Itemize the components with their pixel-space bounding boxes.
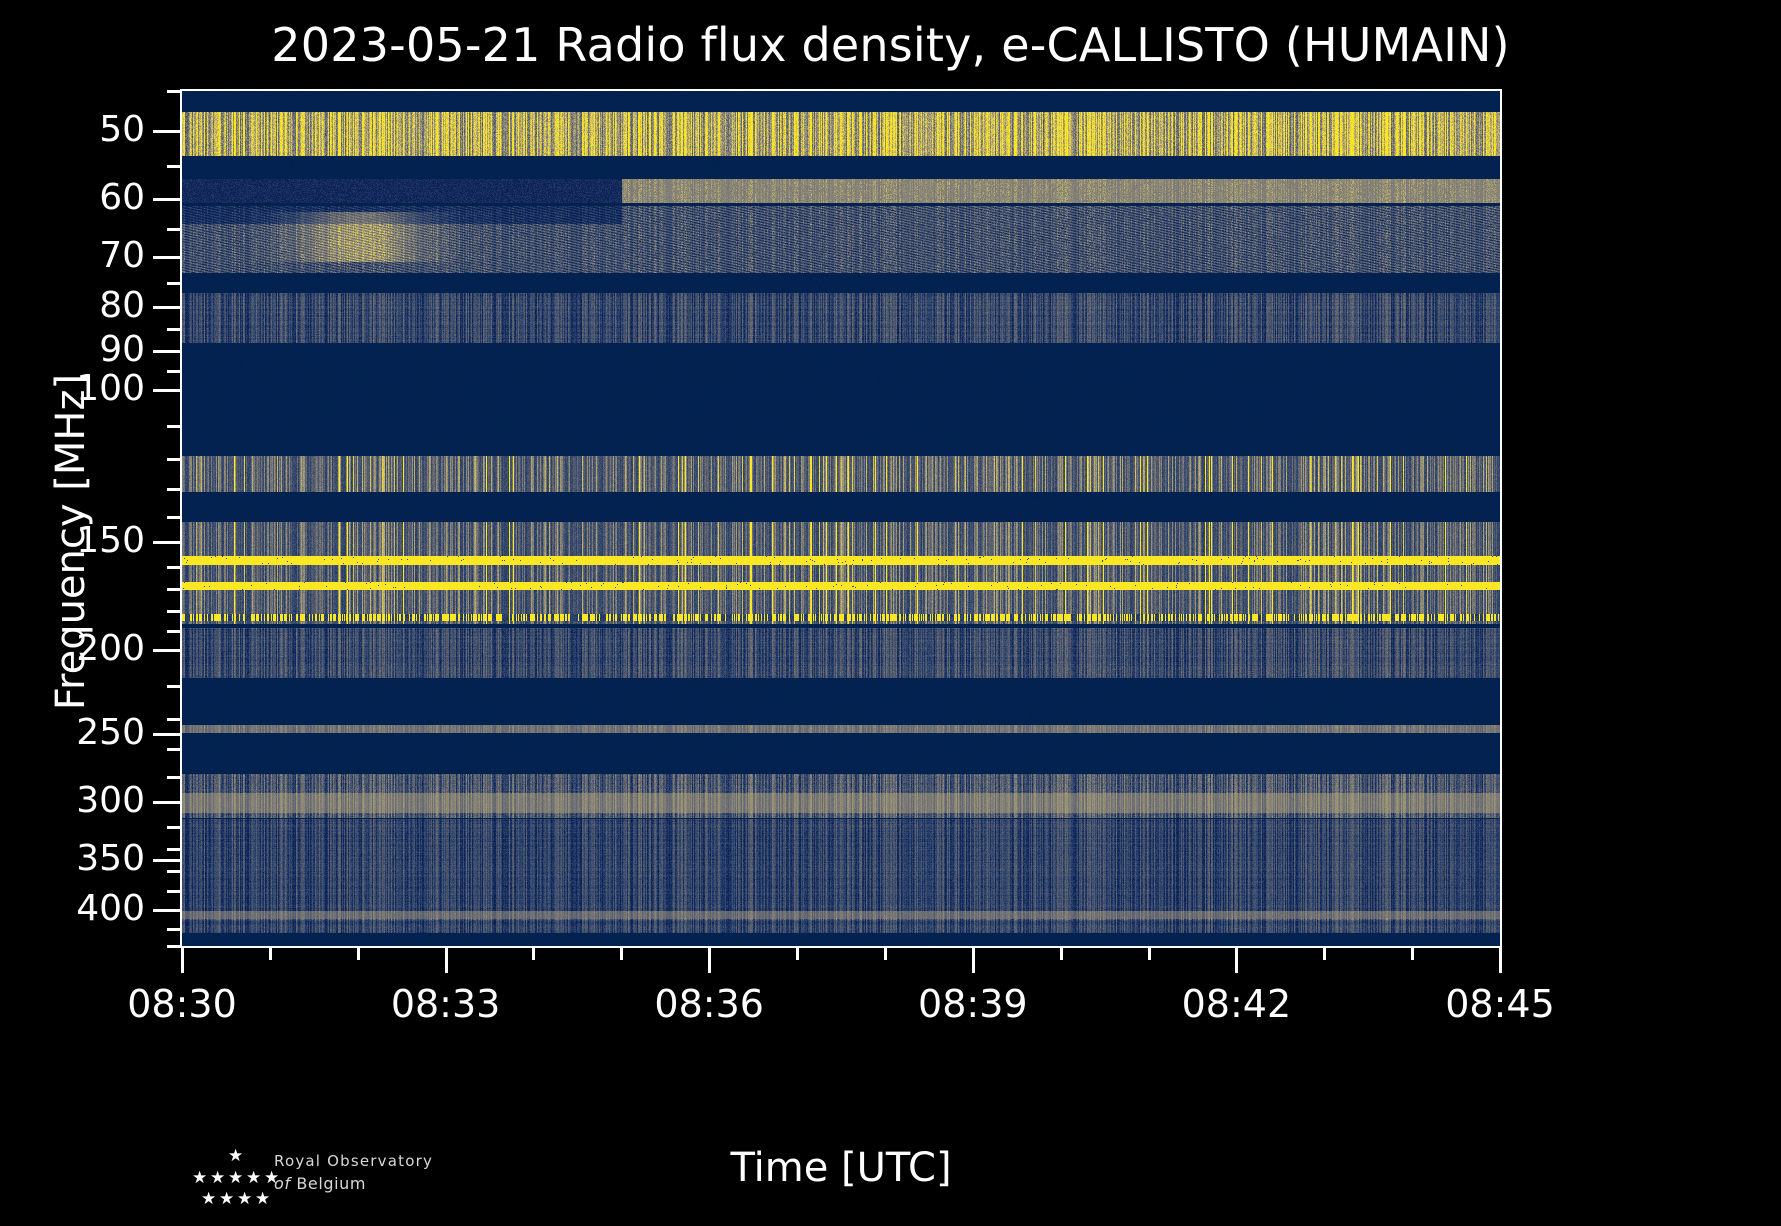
x-axis-minor-tick	[269, 946, 272, 960]
x-axis-minor-tick	[1148, 946, 1151, 960]
spectrogram-plot-area	[182, 91, 1500, 946]
star-icon: ★	[192, 1170, 207, 1187]
y-axis-tick	[153, 306, 182, 309]
y-axis-tick	[153, 909, 182, 912]
y-axis-tick	[153, 130, 182, 133]
x-axis-tick-label: 08:39	[853, 982, 1093, 1026]
star-icon: ★	[201, 1191, 216, 1208]
royal-observatory-logo: ★★★★★★★★★★ Royal Observatory of Belgium	[176, 1148, 596, 1210]
y-axis-minor-tick	[167, 566, 182, 569]
star-icon: ★	[210, 1170, 225, 1187]
logo-of-word: of	[274, 1174, 291, 1193]
y-axis-minor-tick	[167, 328, 182, 331]
y-axis-minor-tick	[167, 282, 182, 285]
y-axis-tick	[153, 541, 182, 544]
x-axis-minor-tick	[620, 946, 623, 960]
y-axis-minor-tick	[167, 630, 182, 633]
x-axis-tick-label: 08:30	[62, 982, 302, 1026]
x-axis-minor-tick	[1411, 946, 1414, 960]
y-axis-tick-label: 60	[5, 180, 145, 216]
x-axis-tick-label: 08:42	[1116, 982, 1356, 1026]
y-axis-tick	[153, 198, 182, 201]
x-axis-tick	[972, 946, 975, 973]
y-axis-tick-label: 400	[5, 891, 145, 927]
y-axis-minor-tick	[167, 610, 182, 613]
y-axis-minor-tick	[167, 748, 182, 751]
y-axis-tick	[153, 350, 182, 353]
y-axis-minor-tick	[167, 370, 182, 373]
logo-line-1: Royal Observatory	[274, 1152, 433, 1170]
x-axis-tick	[1235, 946, 1238, 973]
y-axis-minor-tick	[167, 228, 182, 231]
x-axis-minor-tick	[1060, 946, 1063, 960]
y-axis-minor-tick	[167, 488, 182, 491]
y-axis-minor-tick	[167, 458, 182, 461]
y-axis-tick-label: 50	[5, 112, 145, 148]
y-axis-tick	[153, 256, 182, 259]
y-axis-minor-tick	[167, 90, 182, 93]
star-icon: ★	[219, 1191, 234, 1208]
x-axis-tick	[1499, 946, 1502, 973]
y-axis-minor-tick	[167, 588, 182, 591]
logo-country: Belgium	[296, 1174, 366, 1193]
y-axis-tick-label: 300	[5, 783, 145, 819]
y-axis-tick-label: 350	[5, 841, 145, 877]
y-axis-tick	[153, 733, 182, 736]
spectrogram-canvas	[182, 91, 1500, 946]
y-axis-title: Frequency [MHz]	[48, 307, 94, 777]
y-axis-minor-tick	[167, 516, 182, 519]
y-axis-minor-tick	[167, 890, 182, 893]
y-axis-minor-tick	[167, 848, 182, 851]
star-icon: ★	[228, 1148, 243, 1165]
y-axis-minor-tick	[167, 928, 182, 931]
star-icon: ★	[246, 1170, 261, 1187]
x-axis-tick-label: 08:36	[589, 982, 829, 1026]
x-axis-tick-label: 08:45	[1380, 982, 1620, 1026]
y-axis-tick	[153, 649, 182, 652]
y-axis-minor-tick	[167, 165, 182, 168]
logo-line-2: of Belgium	[274, 1174, 366, 1193]
x-axis-tick-label: 08:33	[326, 982, 566, 1026]
y-axis-tick	[153, 389, 182, 392]
x-axis-minor-tick	[796, 946, 799, 960]
x-axis-tick	[708, 946, 711, 973]
x-axis-minor-tick	[532, 946, 535, 960]
x-axis-minor-tick	[884, 946, 887, 960]
y-axis-minor-tick	[167, 685, 182, 688]
x-axis-tick	[445, 946, 448, 973]
y-axis-minor-tick	[167, 776, 182, 779]
x-axis-tick	[181, 946, 184, 973]
y-axis-minor-tick	[167, 870, 182, 873]
x-axis-minor-tick	[357, 946, 360, 960]
y-axis-tick	[153, 801, 182, 804]
page-title: 2023-05-21 Radio flux density, e-CALLIST…	[0, 18, 1781, 72]
y-axis-minor-tick	[167, 826, 182, 829]
star-icon: ★	[255, 1191, 270, 1208]
x-axis-minor-tick	[1323, 946, 1326, 960]
y-axis-minor-tick	[167, 718, 182, 721]
star-icon: ★	[237, 1191, 252, 1208]
spectrogram-figure: 2023-05-21 Radio flux density, e-CALLIST…	[0, 0, 1781, 1226]
star-icon: ★	[228, 1170, 243, 1187]
y-axis-minor-tick	[167, 945, 182, 948]
y-axis-minor-tick	[167, 425, 182, 428]
y-axis-tick	[153, 859, 182, 862]
y-axis-tick-label: 70	[5, 238, 145, 274]
